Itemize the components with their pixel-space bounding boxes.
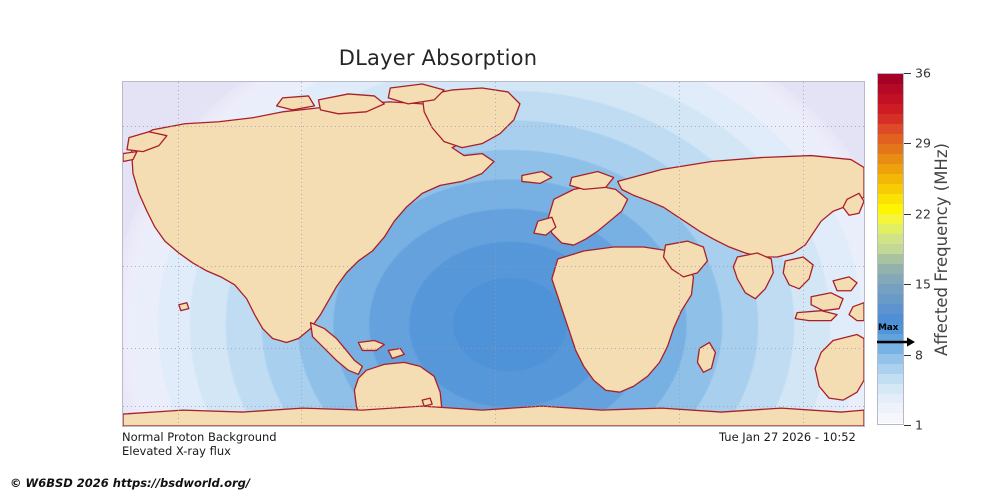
south-atlantic-island: [422, 398, 432, 406]
colorbar-band-15: [878, 224, 903, 234]
max-marker-label: Max: [878, 323, 898, 333]
map-plot-area[interactable]: [122, 81, 865, 427]
colorbar-band-11: [878, 184, 903, 194]
colorbar-band-29: [878, 364, 903, 374]
page-title: DLayer Absorption: [0, 46, 876, 70]
colorbar-band-5: [878, 124, 903, 134]
colorbar-tick-label-1: 1: [915, 418, 923, 433]
colorbar-band-12: [878, 194, 903, 204]
colorbar-band-17: [878, 244, 903, 254]
colorbar-tick-29: [904, 143, 911, 144]
colorbar-tick-15: [904, 284, 911, 285]
colorbar-band-14: [878, 214, 903, 224]
colorbar-band-0: [878, 74, 903, 84]
max-marker: Max: [877, 323, 923, 349]
colorbar-label-text: Affected Frequency (MHz): [932, 143, 951, 356]
colorbar-band-23: [878, 304, 903, 314]
colorbar-tick-label-8: 8: [915, 347, 923, 362]
copyright: © W6BSD 2026 https://bsdworld.org/: [10, 476, 250, 490]
note-xray-flux: Elevated X-ray flux: [122, 444, 231, 458]
colorbar[interactable]: [877, 73, 904, 425]
colorbar-band-13: [878, 204, 903, 214]
colorbar-band-10: [878, 174, 903, 184]
colorbar-axis-label: Affected Frequency (MHz): [929, 73, 953, 425]
colorbar-band-2: [878, 94, 903, 104]
colorbar-band-9: [878, 164, 903, 174]
colorbar-band-1: [878, 84, 903, 94]
colorbar-band-30: [878, 374, 903, 384]
max-arrow-icon: [877, 337, 915, 347]
colorbar-band-6: [878, 134, 903, 144]
colorbar-band-20: [878, 274, 903, 284]
colorbar-band-7: [878, 144, 903, 154]
world-map: [123, 82, 864, 426]
colorbar-gradient: [878, 74, 903, 424]
colorbar-tick-8: [904, 355, 911, 356]
colorbar-band-18: [878, 254, 903, 264]
colorbar-band-33: [878, 403, 903, 413]
colorbar-band-3: [878, 104, 903, 114]
colorbar-tick-1: [904, 425, 911, 426]
colorbar-band-34: [878, 413, 903, 423]
colorbar-band-22: [878, 294, 903, 304]
colorbar-band-19: [878, 264, 903, 274]
colorbar-band-4: [878, 114, 903, 124]
note-proton-background: Normal Proton Background: [122, 430, 277, 444]
colorbar-band-31: [878, 384, 903, 394]
colorbar-tick-36: [904, 73, 911, 74]
colorbar-band-28: [878, 354, 903, 364]
colorbar-band-8: [878, 154, 903, 164]
hawaii: [179, 303, 189, 311]
colorbar-band-16: [878, 234, 903, 244]
colorbar-tick-22: [904, 214, 911, 215]
colorbar-band-21: [878, 284, 903, 294]
colorbar-band-32: [878, 394, 903, 404]
timestamp: Tue Jan 27 2026 - 10:52: [719, 430, 856, 444]
